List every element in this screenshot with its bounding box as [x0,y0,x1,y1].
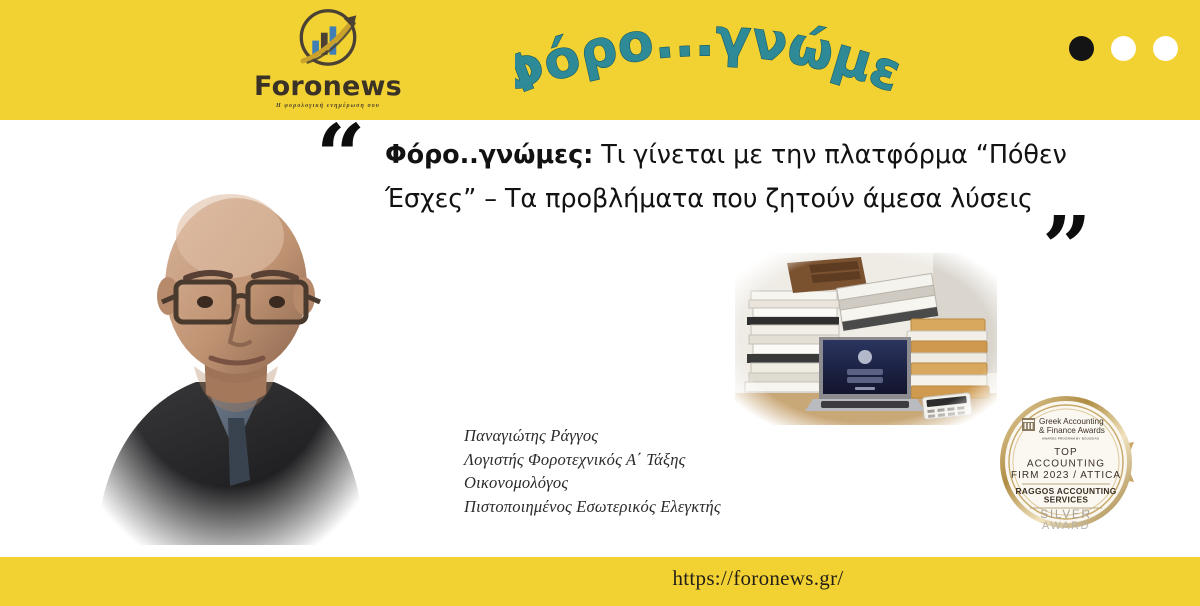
documents-photo [735,253,997,425]
badge-company-line-2: SERVICES [1044,495,1089,505]
badge-level-line-2: AWARD [1042,520,1090,532]
bar-chart-growth-arrow-circle-icon [288,6,368,72]
footer-url[interactable]: https://foronews.gr/ [0,566,1200,591]
stacks-of-documents-image [735,253,997,425]
badge-award-line-2: ACCOUNTING [1027,459,1105,470]
headline-lead: Φόρο..γνώμες: [385,140,593,170]
badge-award-line-3: FIRM 2023 / ATTICA [1011,470,1121,481]
logo-wordmark: Foronews [253,73,403,100]
badge-org-line-3: ΑWARDS PROGRAM BY BOUSSIAS [1042,437,1099,441]
author-name: Παναγιώτης Ράγγος [464,424,864,448]
article-banner: Foronews Η φορολογική ενημέρωση σου Φόρο… [0,0,1200,606]
brand-title-arc: Φόρο...γνώμες [515,6,915,114]
author-portrait [78,150,378,545]
badge-award-line-1: TOP [1054,447,1078,458]
author-title-2: Οικονομολόγος [464,471,864,495]
badge-org-line-2: & Finance Awards [1039,426,1105,435]
dot-2 [1111,36,1136,61]
author-credentials: Παναγιώτης Ράγγος Λογιστής Φοροτεχνικός … [464,424,864,518]
author-title-1: Λογιστής Φοροτεχνικός Α΄ Τάξης [464,448,864,472]
badge-org-line-1: Greek Accounting [1039,417,1104,426]
decorative-dots [1069,36,1178,61]
article-headline: Φόρο..γνώμες: Τι γίνεται με την πλατφόρμ… [385,133,1085,221]
brand-title-text: Φόρο...γνώμες [515,6,909,110]
author-title-3: Πιστοποιημένος Εσωτερικός Ελεγκτής [464,495,864,519]
foronews-logo[interactable]: Foronews Η φορολογική ενημέρωση σου [253,6,403,118]
dot-1 [1069,36,1094,61]
award-badge: Greek Accounting & Finance Awards ΑWARDS… [998,392,1140,534]
badge-level-line-1: SILVER [1040,507,1091,521]
dot-3 [1153,36,1178,61]
portrait-image [78,150,378,545]
